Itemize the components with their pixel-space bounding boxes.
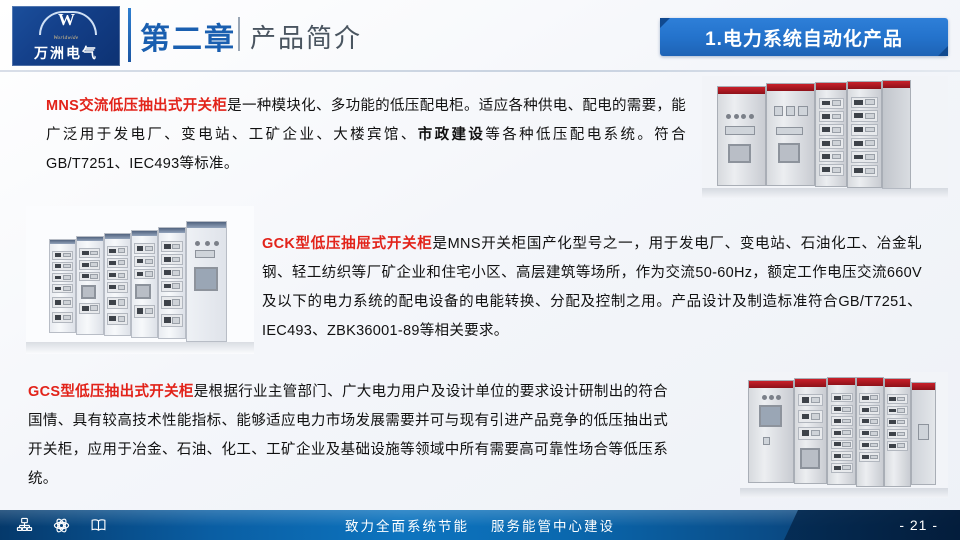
chapter-title: 第二章 (140, 14, 236, 58)
title-separator (238, 17, 240, 51)
mns-switchgear-photo (702, 76, 948, 198)
paragraph-mns-text-bold: 市政建设 (418, 127, 486, 143)
paragraph-mns: MNS交流低压抽出式开关柜是一种模块化、多功能的低压配电柜。适应各种供电、配电的… (46, 92, 686, 179)
slide-footer: 致力全面系统节能 服务能管中心建设 - 21 - (0, 510, 960, 540)
footer-slogan-right: 服务能管中心建设 (491, 515, 615, 535)
section-badge-label: 1.电力系统自动化产品 (705, 24, 903, 51)
paragraph-mns-keyword: MNS交流低压抽出式开关柜 (46, 98, 227, 114)
section-badge: 1.电力系统自动化产品 (660, 18, 948, 56)
gcs-switchgear-photo (740, 372, 948, 498)
worldwide-w-emblem-icon: W (39, 9, 93, 35)
header-underline (0, 70, 960, 72)
logo-company-name: 万洲电气 (34, 43, 98, 63)
footer-slogan-left: 致力全面系统节能 (345, 515, 469, 535)
logo-latin-text: Worldwide (53, 36, 78, 41)
page-number-label: - 21 - (899, 517, 938, 533)
chapter-subtitle: 产品简介 (250, 18, 362, 55)
gck-switchgear-photo (26, 206, 254, 354)
header-divider (128, 8, 131, 62)
paragraph-gcs: GCS型低压抽出式开关柜是根据行业主管部门、广大电力用户及设计单位的要求设计研制… (28, 378, 668, 494)
slide: W Worldwide 万洲电气 第二章 产品简介 1.电力系统自动化产品 MN… (0, 0, 960, 540)
paragraph-gcs-keyword: GCS型低压抽出式开关柜 (28, 384, 194, 400)
paragraph-gck: GCK型低压抽屉式开关柜是MNS开关柜国产化型号之一，用于发电厂、变电站、石油化… (262, 230, 922, 346)
badge-corner-top-left (660, 18, 670, 28)
company-logo: W Worldwide 万洲电气 (12, 6, 120, 66)
badge-corner-bottom-right (938, 46, 948, 56)
paragraph-gck-keyword: GCK型低压抽屉式开关柜 (262, 236, 432, 252)
logo-letter: W (39, 10, 93, 30)
slide-header: W Worldwide 万洲电气 第二章 产品简介 1.电力系统自动化产品 (0, 0, 960, 72)
page-number: - 21 - (899, 510, 938, 540)
